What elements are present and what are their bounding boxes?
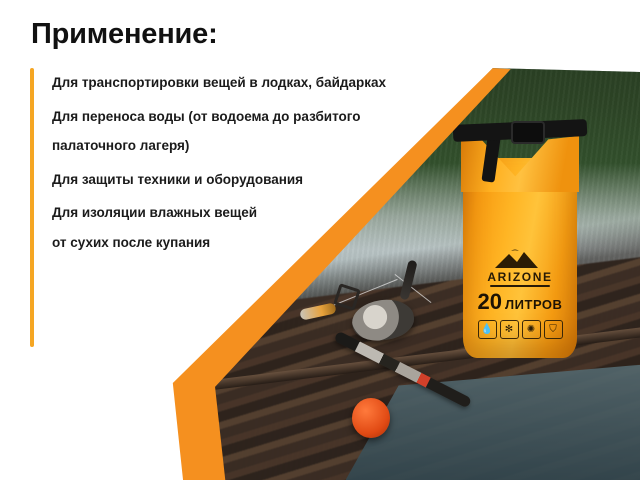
dry-bag-label: ARIZONE 20 ЛИТРОВ 💧 ✻ ✺ ⛉ <box>463 248 577 339</box>
waterproof-icon: 💧 <box>478 320 497 339</box>
list-item: Для транспортировки вещей в лодках, байд… <box>52 76 432 90</box>
roll-top-bag-icon: ⛉ <box>544 320 563 339</box>
presentation-slide: ARIZONE 20 ЛИТРОВ 💧 ✻ ✺ ⛉ Применение: Дл… <box>0 0 640 480</box>
frost-resistant-icon: ✻ <box>500 320 519 339</box>
feature-icon-row: 💧 ✻ ✺ ⛉ <box>463 320 577 339</box>
brand-name: ARIZONE <box>463 271 577 283</box>
uv-resistant-icon: ✺ <box>522 320 541 339</box>
volume-number: 20 <box>478 291 502 313</box>
dry-bag-product: ARIZONE 20 ЛИТРОВ 💧 ✻ ✺ ⛉ <box>455 120 585 360</box>
bullet-line: от сухих после купания <box>52 236 432 250</box>
bullet-line: Для переноса воды (от водоема до разбито… <box>52 110 432 124</box>
brand-underline <box>490 285 550 287</box>
dry-bag-buckle <box>511 121 545 144</box>
rod-butt-knob <box>352 398 390 438</box>
list-item: Для защиты техники и оборудования <box>52 173 432 187</box>
volume-row: 20 ЛИТРОВ <box>463 291 577 313</box>
bullet-line: Для изоляции влажных вещей <box>52 206 432 220</box>
bullet-line: Для транспортировки вещей в лодках, байд… <box>52 76 432 90</box>
list-item: Для изоляции влажных вещей от сухих посл… <box>52 206 432 249</box>
bullet-line: Для защиты техники и оборудования <box>52 173 432 187</box>
volume-unit: ЛИТРОВ <box>505 298 562 311</box>
page-title: Применение: <box>31 18 218 51</box>
bullet-list: Для транспортировки вещей в лодках, байд… <box>52 76 432 269</box>
mountain-logo-icon <box>493 248 547 270</box>
orange-accent-bar <box>30 68 34 347</box>
list-item: Для переноса воды (от водоема до разбито… <box>52 110 432 153</box>
bullet-line: палаточного лагеря) <box>52 139 432 153</box>
